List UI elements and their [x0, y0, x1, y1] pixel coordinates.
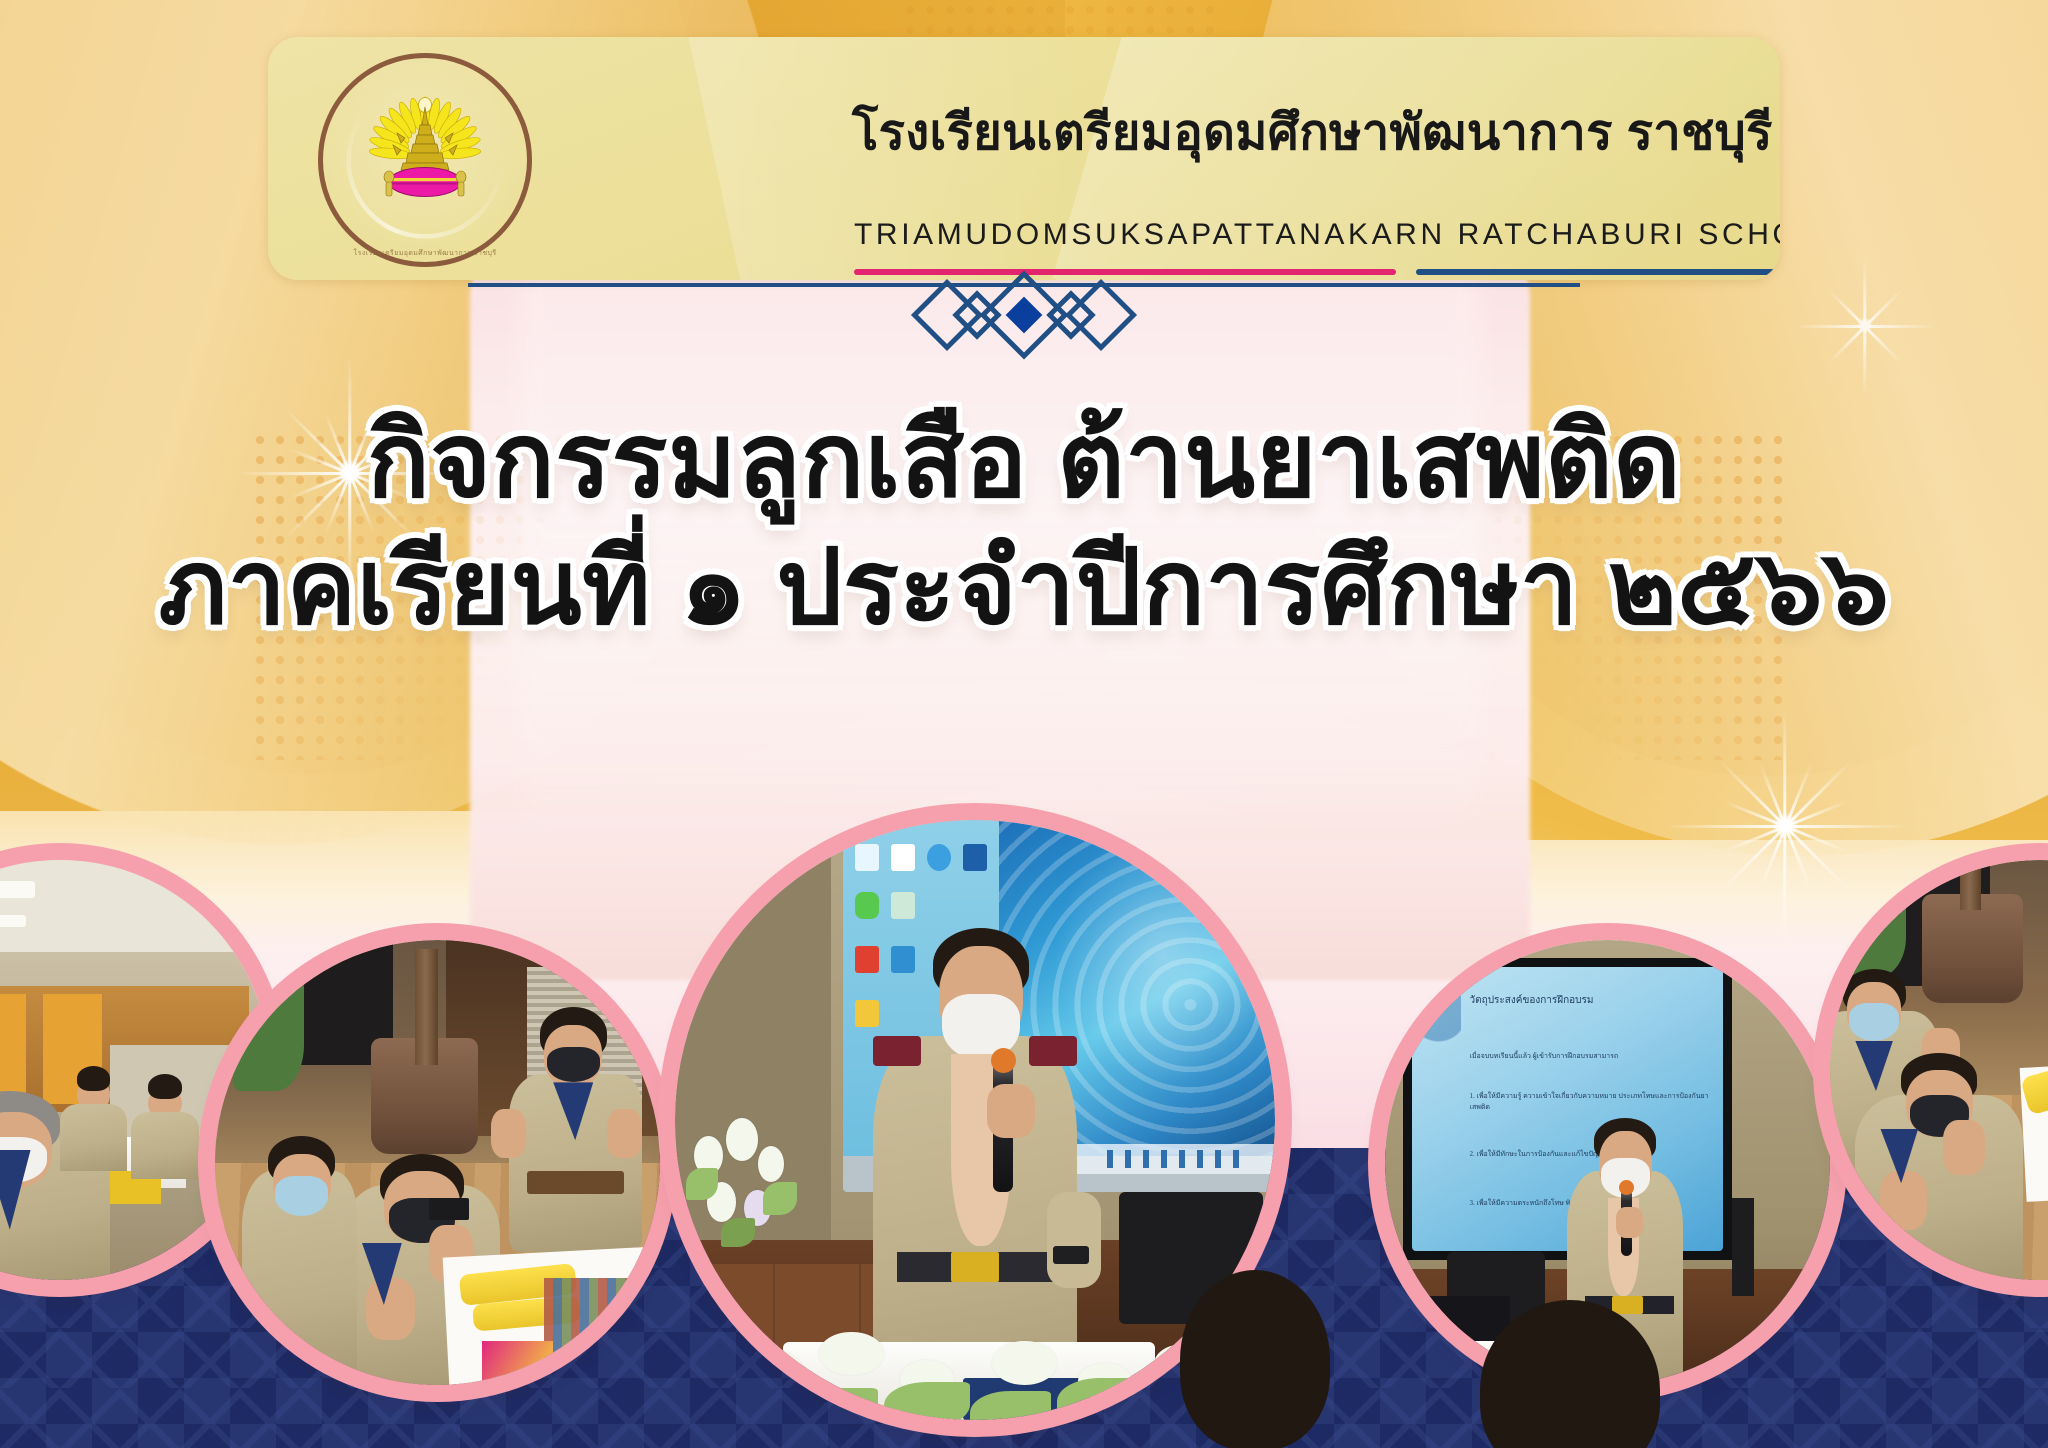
photo-left-activity[interactable] — [215, 940, 660, 1385]
title-line-2: ภาคเรียนที่ ๑ ประจำปีการศึกษา ๒๕๖๖ — [0, 525, 2048, 652]
slide-intro: เมื่อจบบทเรียนนี้แล้ว ผู้เข้ารับการฝึกอบ… — [1470, 1051, 1719, 1062]
page-title: กิจกรรมลูกเสือ ต้านยาเสพติด ภาคเรียนที่ … — [0, 398, 2048, 652]
photo-right-group[interactable] — [1830, 860, 2048, 1280]
diamond-ornament-svg — [889, 258, 1159, 368]
foreground-flowers-center — [711, 1288, 1251, 1420]
foreground-head-left — [1180, 1270, 1330, 1448]
diamond-ornament — [889, 258, 1159, 373]
poster-canvas: โรงเรียนเตรียมอุดมศึกษาพัฒนาการ ราชบุรี … — [0, 0, 2048, 1448]
crest-emblem-svg — [350, 85, 500, 235]
crest-motto-text: โรงเรียนเตรียมอุดมศึกษาพัฒนาการ ราชบุรี — [354, 248, 497, 259]
school-name-english: TRIAMUDOMSUKSAPATTANAKARN RATCHABURI SCH… — [854, 220, 1714, 250]
school-name-thai: โรงเรียนเตรียมอุดมศึกษาพัฒนาการ ราชบุรี — [852, 109, 1712, 158]
slide-item-1: 1. เพื่อให้มีความรู้ ความเข้าใจเกี่ยวกับ… — [1470, 1091, 1719, 1113]
school-header-card: โรงเรียนเตรียมอุดมศึกษาพัฒนาการ ราชบุรี … — [268, 37, 1780, 280]
title-line-1: กิจกรรมลูกเสือ ต้านยาเสพติด — [367, 403, 1681, 519]
slide-heading: วัตถุประสงค์ของการฝึกอบรม — [1470, 993, 1719, 1009]
divider-blue — [1416, 269, 1780, 275]
school-crest-icon: โรงเรียนเตรียมอุดมศึกษาพัฒนาการ ราชบุรี — [318, 53, 532, 267]
